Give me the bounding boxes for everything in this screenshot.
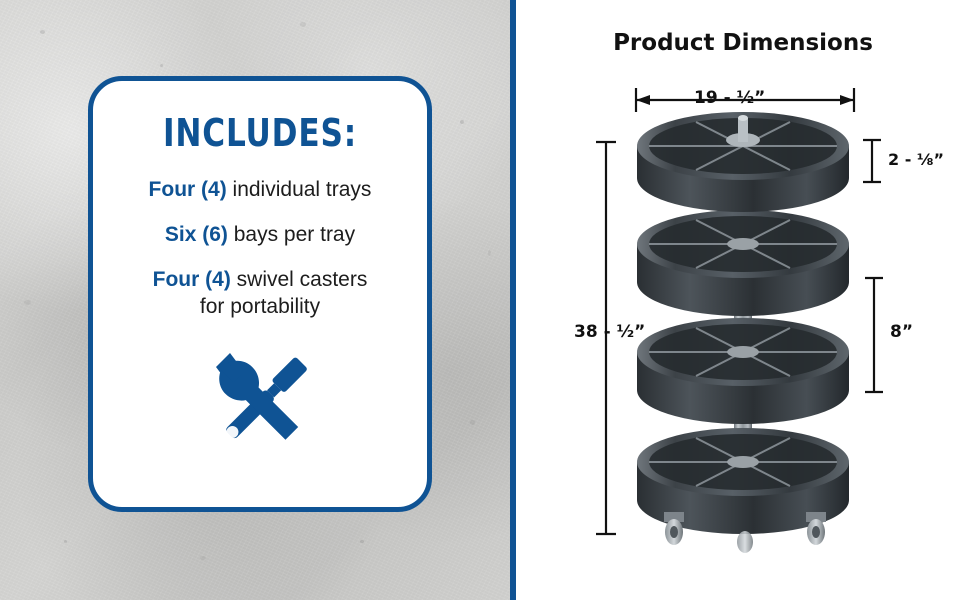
dimension-tray-spacing-label: 8” (890, 322, 913, 342)
tools-wrench-screwdriver-icon (194, 339, 326, 467)
right-dimensions-panel: Product Dimensions (516, 0, 970, 600)
list-item: Four (4) swivel casters for portability (93, 267, 427, 321)
tools-icon-wrap (93, 339, 427, 467)
dimension-tray-lip-label: 2 - ⅛” (888, 150, 944, 169)
list-item-text: bays per tray (228, 223, 355, 246)
list-item: Four (4) individual trays (93, 177, 427, 204)
product-illustration: 19 - ½” 38 - ½” 2 - ⅛” 8” (516, 0, 970, 600)
tray-second (637, 210, 849, 316)
list-item-text: swivel casters (231, 268, 368, 291)
dimension-height-label: 38 - ½” (574, 322, 645, 342)
list-item-highlight: Six (6) (165, 223, 228, 246)
list-item: Six (6) bays per tray (93, 222, 427, 249)
list-item-highlight: Four (4) (149, 178, 227, 201)
product-infographic: INCLUDES: Four (4) individual trays Six … (0, 0, 970, 600)
dimension-width-label: 19 - ½” (694, 88, 765, 108)
tray-top (637, 112, 849, 212)
includes-card: INCLUDES: Four (4) individual trays Six … (88, 76, 432, 512)
list-item-text-second-line: for portability (200, 295, 320, 318)
includes-title: INCLUDES: (123, 111, 397, 155)
left-concrete-panel: INCLUDES: Four (4) individual trays Six … (0, 0, 510, 600)
tray-third (637, 318, 849, 424)
includes-list: Four (4) individual trays Six (6) bays p… (93, 177, 427, 321)
list-item-text: individual trays (227, 178, 372, 201)
list-item-highlight: Four (4) (153, 268, 231, 291)
